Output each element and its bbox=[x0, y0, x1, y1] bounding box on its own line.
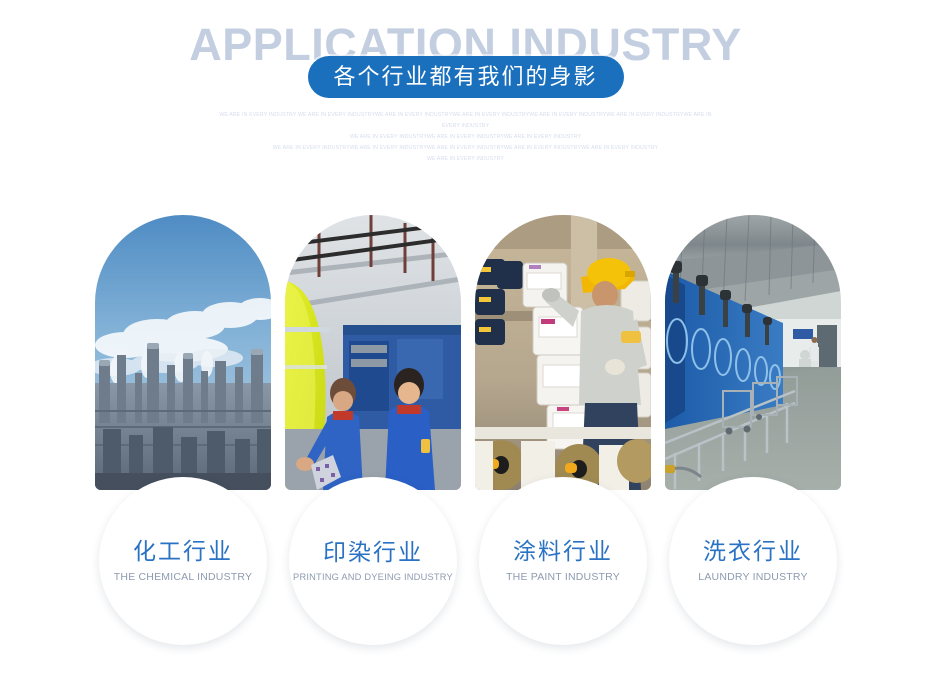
industry-name-cn: 洗衣行业 bbox=[703, 539, 803, 564]
industry-name-cn: 涂料行业 bbox=[513, 539, 613, 564]
industry-card-paint[interactable]: 涂料行业 THE PAINT INDUSTRY bbox=[475, 215, 651, 615]
textile-dyeing-workers-photo bbox=[285, 215, 461, 490]
industry-name-en: LAUNDRY INDUSTRY bbox=[698, 571, 807, 583]
application-industry-banner: APPLICATION INDUSTRY 各个行业都有我们的身影 WE ARE … bbox=[0, 0, 931, 676]
industry-name-en: THE PAINT INDUSTRY bbox=[506, 571, 620, 583]
industrial-laundry-machines-photo bbox=[665, 215, 841, 490]
badge-label: 各个行业都有我们的身影 bbox=[333, 66, 597, 88]
industry-card-chemical[interactable]: 化工行业 THE CHEMICAL INDUSTRY bbox=[95, 215, 271, 615]
industry-label-printing-dyeing: 印染行业 PRINTING AND DYEING INDUSTRY bbox=[289, 477, 457, 645]
status-badge: 各个行业都有我们的身影 bbox=[307, 56, 623, 98]
decorative-microtext: WE ARE IN EVERY INDUSTRY WE ARE IN EVERY… bbox=[0, 110, 931, 165]
industry-label-chemical: 化工行业 THE CHEMICAL INDUSTRY bbox=[99, 477, 267, 645]
microtext-line-4: WE ARE IN EVERY INDUSTRY bbox=[386, 154, 546, 165]
banner-header: APPLICATION INDUSTRY 各个行业都有我们的身影 WE ARE … bbox=[0, 0, 931, 170]
industry-label-laundry: 洗衣行业 LAUNDRY INDUSTRY bbox=[669, 477, 837, 645]
industry-card-list: 化工行业 THE CHEMICAL INDUSTRY bbox=[95, 215, 851, 615]
industry-name-cn: 化工行业 bbox=[133, 539, 233, 564]
microtext-line-1: WE ARE IN EVERY INDUSTRY WE ARE IN EVERY… bbox=[216, 110, 716, 132]
industry-card-laundry[interactable]: 洗衣行业 LAUNDRY INDUSTRY bbox=[665, 215, 841, 615]
industry-name-cn: 印染行业 bbox=[323, 540, 423, 565]
industry-label-paint: 涂料行业 THE PAINT INDUSTRY bbox=[479, 477, 647, 645]
industry-name-en: PRINTING AND DYEING INDUSTRY bbox=[293, 572, 453, 582]
chemical-plant-photo bbox=[95, 215, 271, 490]
industry-card-printing-dyeing[interactable]: 印染行业 PRINTING AND DYEING INDUSTRY bbox=[285, 215, 461, 615]
industry-name-en: THE CHEMICAL INDUSTRY bbox=[114, 571, 252, 583]
paint-buckets-worker-photo bbox=[475, 215, 651, 490]
microtext-line-2: WE ARE IN EVERY INDUSTRYWE ARE IN EVERY … bbox=[301, 132, 631, 143]
microtext-line-3: WE ARE IN EVERY INDUSTRYWE ARE IN EVERY … bbox=[266, 143, 666, 154]
